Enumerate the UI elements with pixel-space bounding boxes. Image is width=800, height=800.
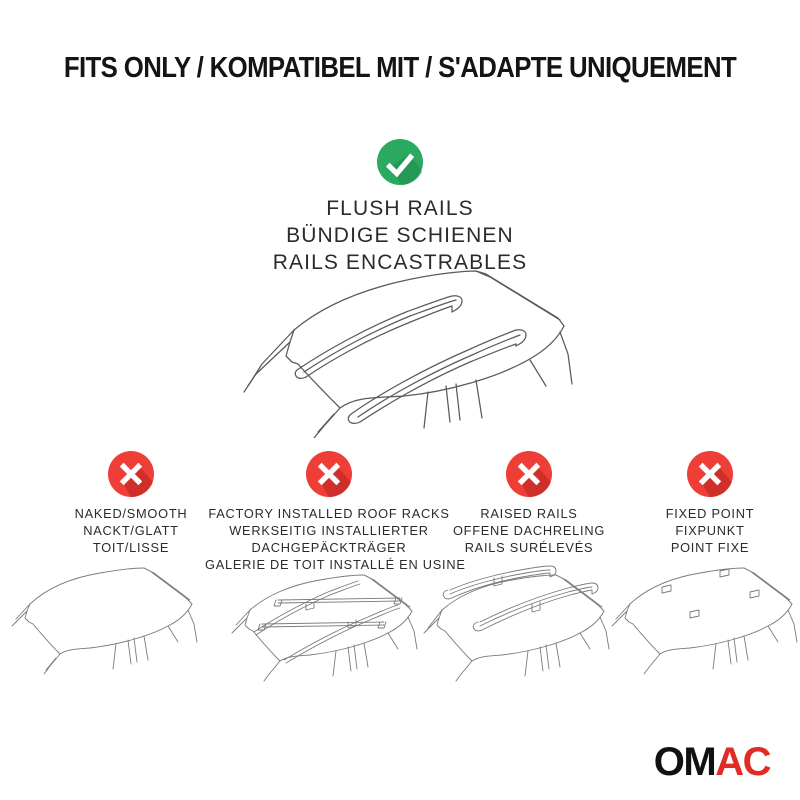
car-roof-raised-rails-illustration bbox=[420, 560, 620, 685]
x-circle-icon bbox=[686, 450, 734, 498]
page-title: FITS ONLY / KOMPATIBEL MIT / S'ADAPTE UN… bbox=[38, 52, 762, 85]
incompatible-fixed-point-labels: FIXED POINT FIXPUNKT POINT FIXE bbox=[620, 506, 800, 557]
incompatible-types-row: NAKED/SMOOTH NACKT/GLATT TOIT/LISSE FACT… bbox=[0, 450, 800, 700]
car-roof-naked-illustration bbox=[8, 554, 208, 679]
x-circle-icon bbox=[305, 450, 353, 498]
incompatible-raised-rails-label-en: RAISED RAILS bbox=[425, 506, 633, 523]
incompatible-factory-racks-label-de2: DACHGEPÄCKTRÄGER bbox=[205, 540, 453, 557]
incompatible-type-raised-rails: RAISED RAILS OFFENE DACHRELING RAILS SUR… bbox=[425, 450, 633, 557]
x-circle-icon bbox=[505, 450, 553, 498]
car-roof-flush-rails-illustration bbox=[228, 268, 584, 438]
logo-text-dark: OM bbox=[654, 740, 715, 784]
compatibility-infographic: FITS ONLY / KOMPATIBEL MIT / S'ADAPTE UN… bbox=[0, 0, 800, 800]
incompatible-raised-rails-label-de: OFFENE DACHRELING bbox=[425, 523, 633, 540]
incompatible-fixed-point-label-en: FIXED POINT bbox=[620, 506, 800, 523]
check-circle-icon bbox=[376, 138, 424, 186]
compatible-label-en: FLUSH RAILS bbox=[0, 196, 800, 223]
incompatible-factory-racks-label-en: FACTORY INSTALLED ROOF RACKS bbox=[205, 506, 453, 523]
incompatible-type-factory-racks: FACTORY INSTALLED ROOF RACKS WERKSEITIG … bbox=[205, 450, 453, 574]
incompatible-raised-rails-label-fr: RAILS SURÉLEVÉS bbox=[425, 540, 633, 557]
compatible-type-block: FLUSH RAILS BÜNDIGE SCHIENEN RAILS ENCAS… bbox=[0, 138, 800, 277]
incompatible-fixed-point-label-de: FIXPUNKT bbox=[620, 523, 800, 540]
compatible-type-labels: FLUSH RAILS BÜNDIGE SCHIENEN RAILS ENCAS… bbox=[0, 196, 800, 277]
logo-text-accent: AC bbox=[715, 740, 770, 784]
incompatible-raised-rails-labels: RAISED RAILS OFFENE DACHRELING RAILS SUR… bbox=[425, 506, 633, 557]
incompatible-factory-racks-label-de1: WERKSEITIG INSTALLIERTER bbox=[205, 523, 453, 540]
omac-logo: OMAC bbox=[654, 742, 770, 782]
x-circle-icon bbox=[107, 450, 155, 498]
car-roof-factory-racks-illustration bbox=[228, 562, 428, 687]
car-roof-fixed-point-illustration bbox=[608, 554, 800, 679]
incompatible-type-fixed-point: FIXED POINT FIXPUNKT POINT FIXE bbox=[620, 450, 800, 557]
compatible-label-de: BÜNDIGE SCHIENEN bbox=[0, 223, 800, 250]
